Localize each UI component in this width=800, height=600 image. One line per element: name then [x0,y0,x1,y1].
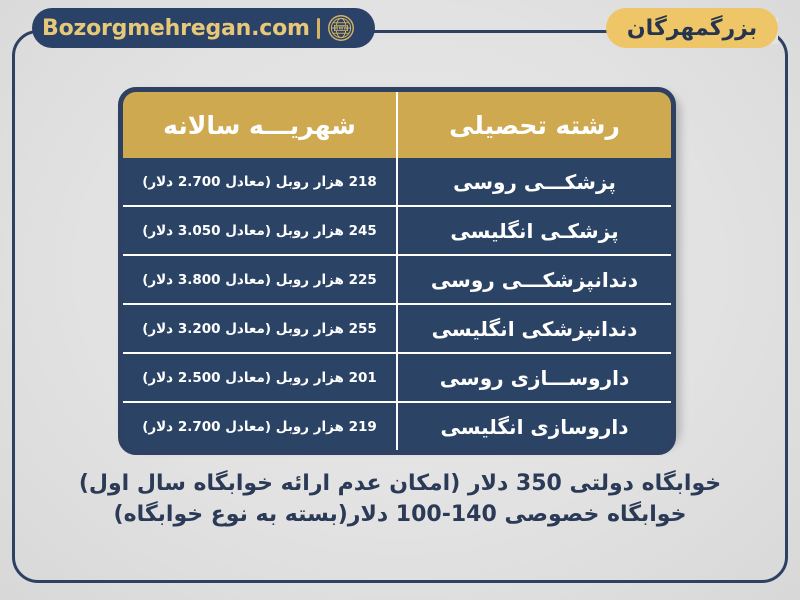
globe-www-icon: WWW [327,14,355,42]
site-badge[interactable]: WWW Bozorgmehregan.com [32,8,375,48]
column-header-major: رشته تحصیلی [397,92,671,158]
dormitory-caption: خوابگاه دولتی 350 دلار (امکان عدم ارائه … [20,468,780,530]
cell-major: دندانپزشکی انگلیسی [397,304,671,353]
site-name-label: Bozorgmehregan.com [42,16,310,41]
table-row: داروســـازی روسی 201 هزار روبل (معادل 2.… [123,353,671,402]
svg-text:WWW: WWW [334,26,349,32]
cell-major: داروسازی انگلیسی [397,402,671,450]
table-row: دندانپزشکی انگلیسی 255 هزار روبل (معادل … [123,304,671,353]
cell-fee: 225 هزار روبل (معادل 3.800 دلار) [123,255,397,304]
cell-fee: 218 هزار روبل (معادل 2.700 دلار) [123,158,397,206]
caption-line-2: خوابگاه خصوصی 140-100 دلار(بسته به نوع خ… [20,499,780,530]
table-row: پزشکـی انگلیسی 245 هزار روبل (معادل 3.05… [123,206,671,255]
cell-fee: 201 هزار روبل (معادل 2.500 دلار) [123,353,397,402]
cell-fee: 245 هزار روبل (معادل 3.050 دلار) [123,206,397,255]
cell-major: دندانپزشکـــی روسی [397,255,671,304]
table-header-row: رشته تحصیلی شهریـــه سالانه [123,92,671,158]
column-header-fee: شهریـــه سالانه [123,92,397,158]
cell-major: پزشکـی انگلیسی [397,206,671,255]
cell-fee: 219 هزار روبل (معادل 2.700 دلار) [123,402,397,450]
table-row: پزشکـــی روسی 218 هزار روبل (معادل 2.700… [123,158,671,206]
caption-line-1: خوابگاه دولتی 350 دلار (امکان عدم ارائه … [20,468,780,499]
badge-divider [317,18,320,39]
table-row: دندانپزشکـــی روسی 225 هزار روبل (معادل … [123,255,671,304]
brand-name-label: بزرگمهرگان [627,16,757,41]
cell-fee: 255 هزار روبل (معادل 3.200 دلار) [123,304,397,353]
cell-major: پزشکـــی روسی [397,158,671,206]
brand-badge[interactable]: بزرگمهرگان [606,8,778,48]
cell-major: داروســـازی روسی [397,353,671,402]
tuition-table: رشته تحصیلی شهریـــه سالانه پزشکـــی روس… [118,87,676,455]
table-row: داروسازی انگلیسی 219 هزار روبل (معادل 2.… [123,402,671,450]
